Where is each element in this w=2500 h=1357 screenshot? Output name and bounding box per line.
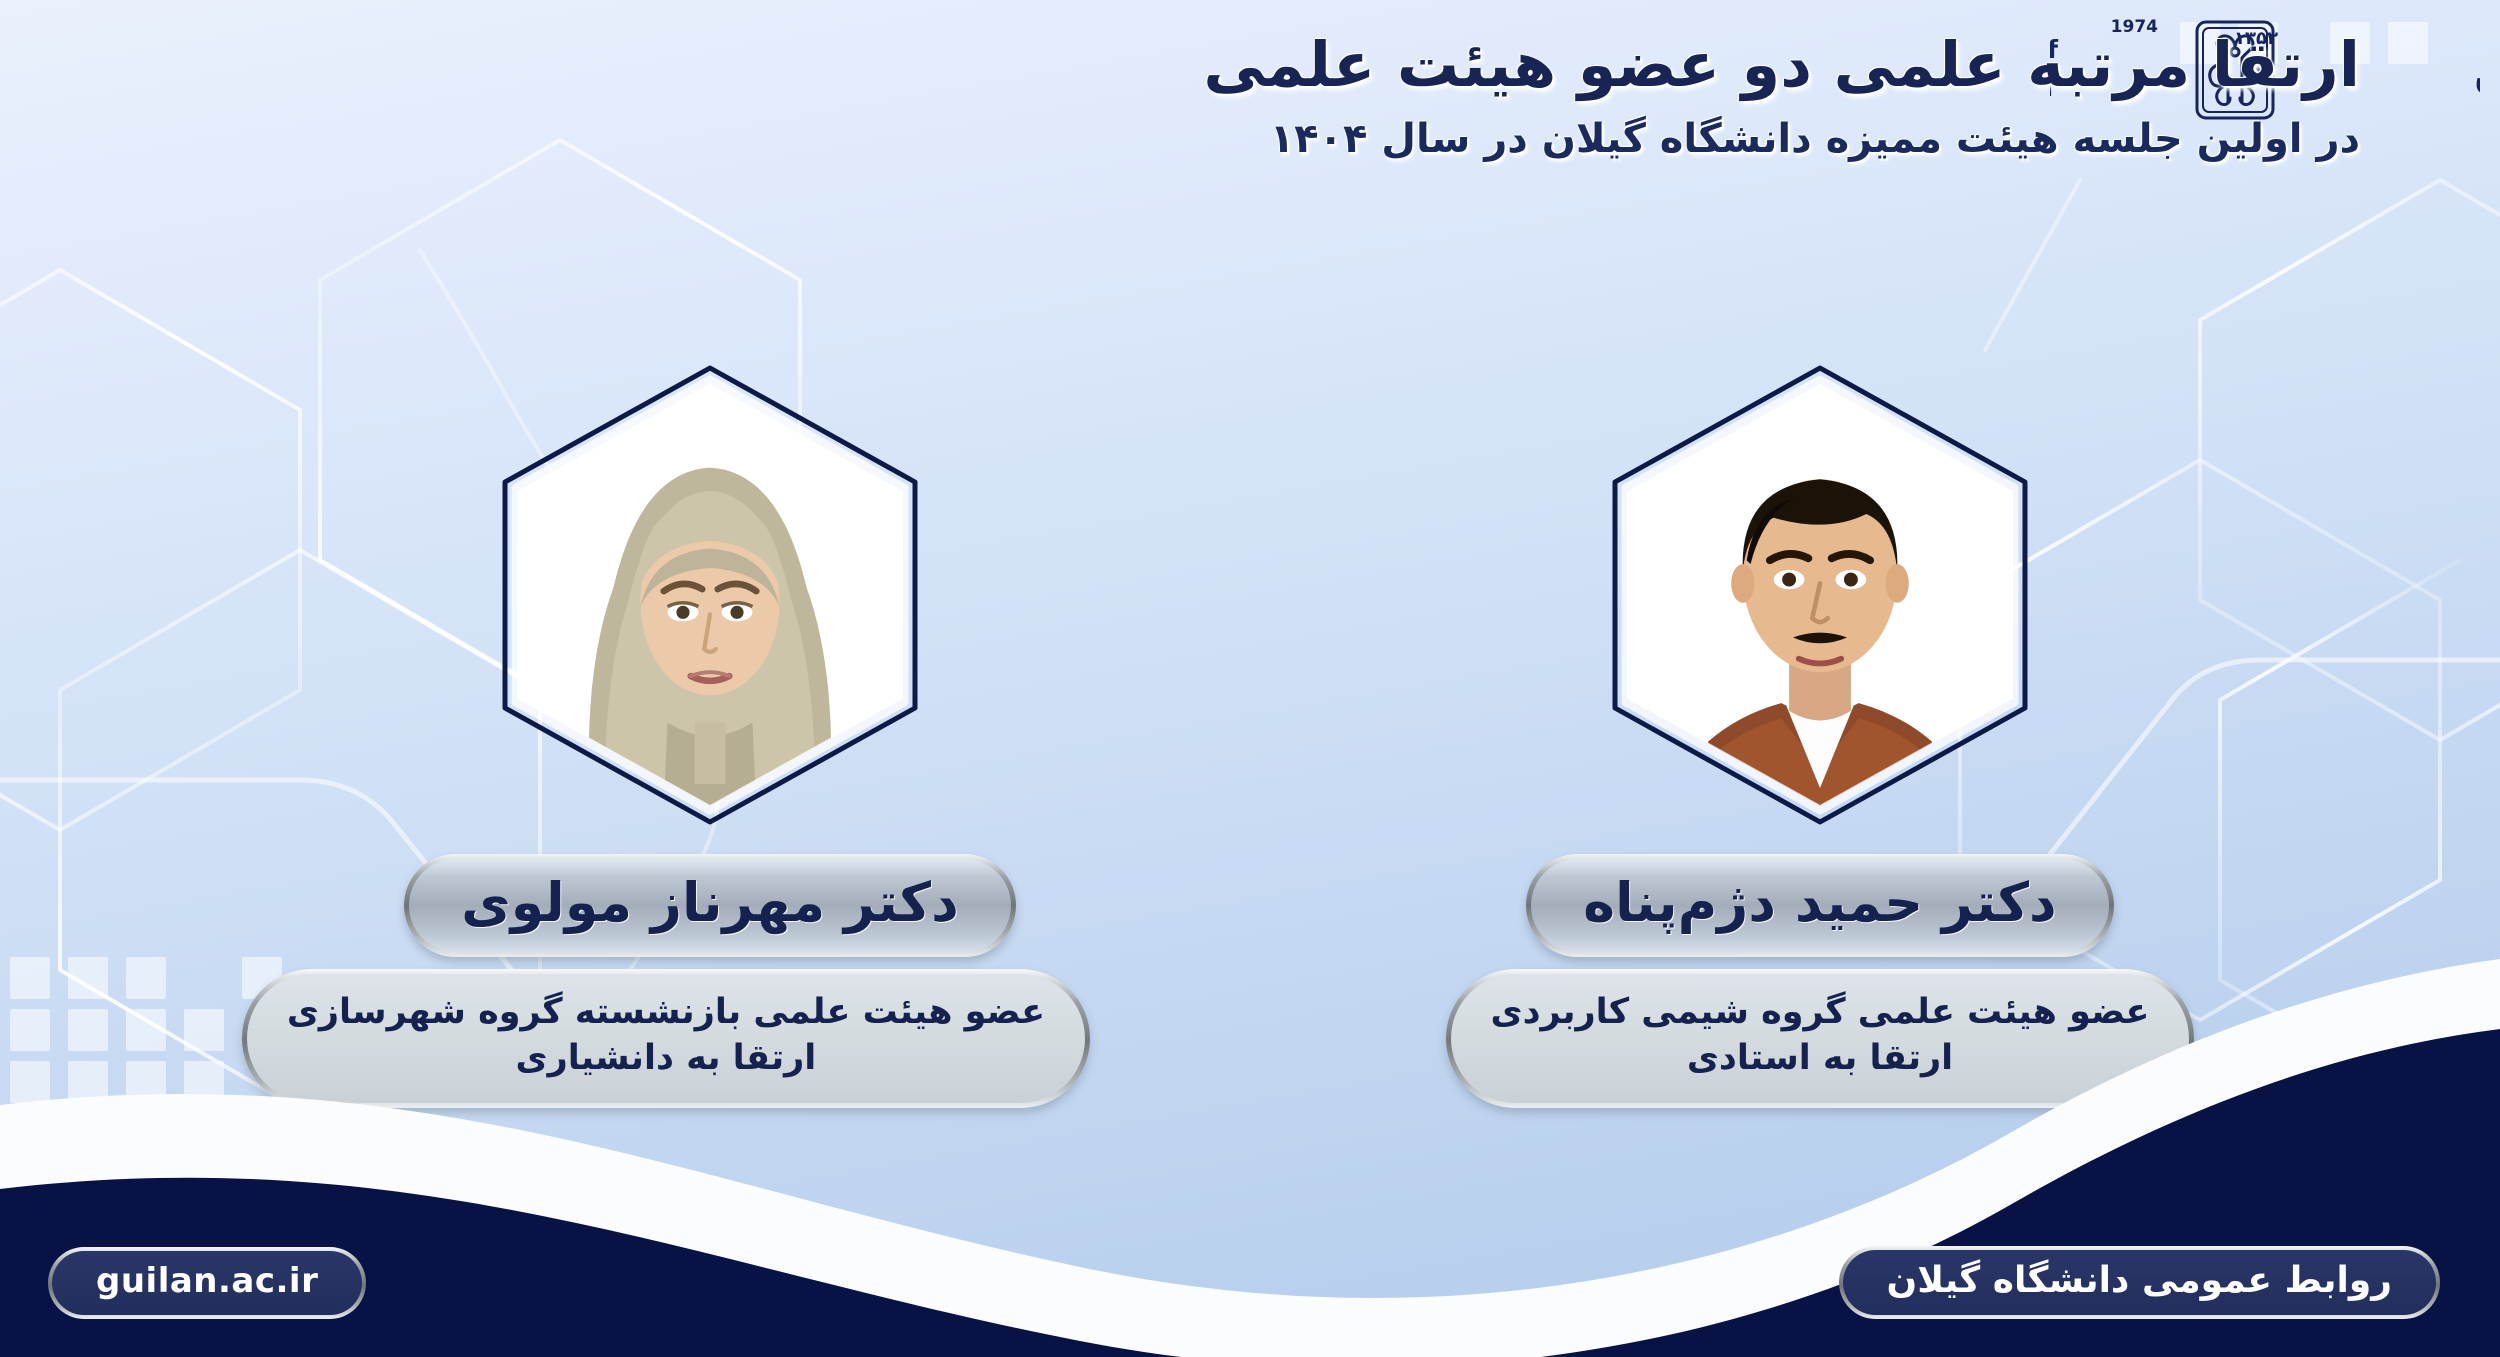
portrait-hex-frame-dejampanah xyxy=(1605,360,2035,830)
page-title: ارتقا مرتبه علمی دو عضو هیئت علمی xyxy=(1060,28,2360,101)
person-name: دکتر حمید دژم‌پناه xyxy=(1583,871,2057,934)
logo-name-fa: دانشگاه گیلان xyxy=(2474,49,2480,98)
public-relations-pill[interactable]: روابط عمومی دانشگاه گیلان xyxy=(1839,1246,2440,1319)
hex-outline-icon xyxy=(495,360,925,830)
hex-outline-icon xyxy=(1605,360,2035,830)
person-name: دکتر مهرناز مولوی xyxy=(461,871,959,934)
website-pill[interactable]: guilan.ac.ir xyxy=(48,1247,366,1319)
public-relations-label: روابط عمومی دانشگاه گیلان xyxy=(1887,1260,2392,1301)
header-titles: ارتقا مرتبه علمی دو عضو هیئت علمی در اول… xyxy=(1060,28,2360,163)
portrait-hex-frame-molavi xyxy=(495,360,925,830)
footer-wave-decoration: guilan.ac.ir روابط عمومی دانشگاه گیلان xyxy=(0,937,2500,1357)
website-url: guilan.ac.ir xyxy=(96,1261,318,1301)
page-subtitle: در اولین جلسه هیئت ممیزه دانشگاه گیلان د… xyxy=(1060,115,2360,163)
poster-canvas: University of Guilan 1974 ۱۳۵۳ دانشگاه گ… xyxy=(0,0,2500,1357)
